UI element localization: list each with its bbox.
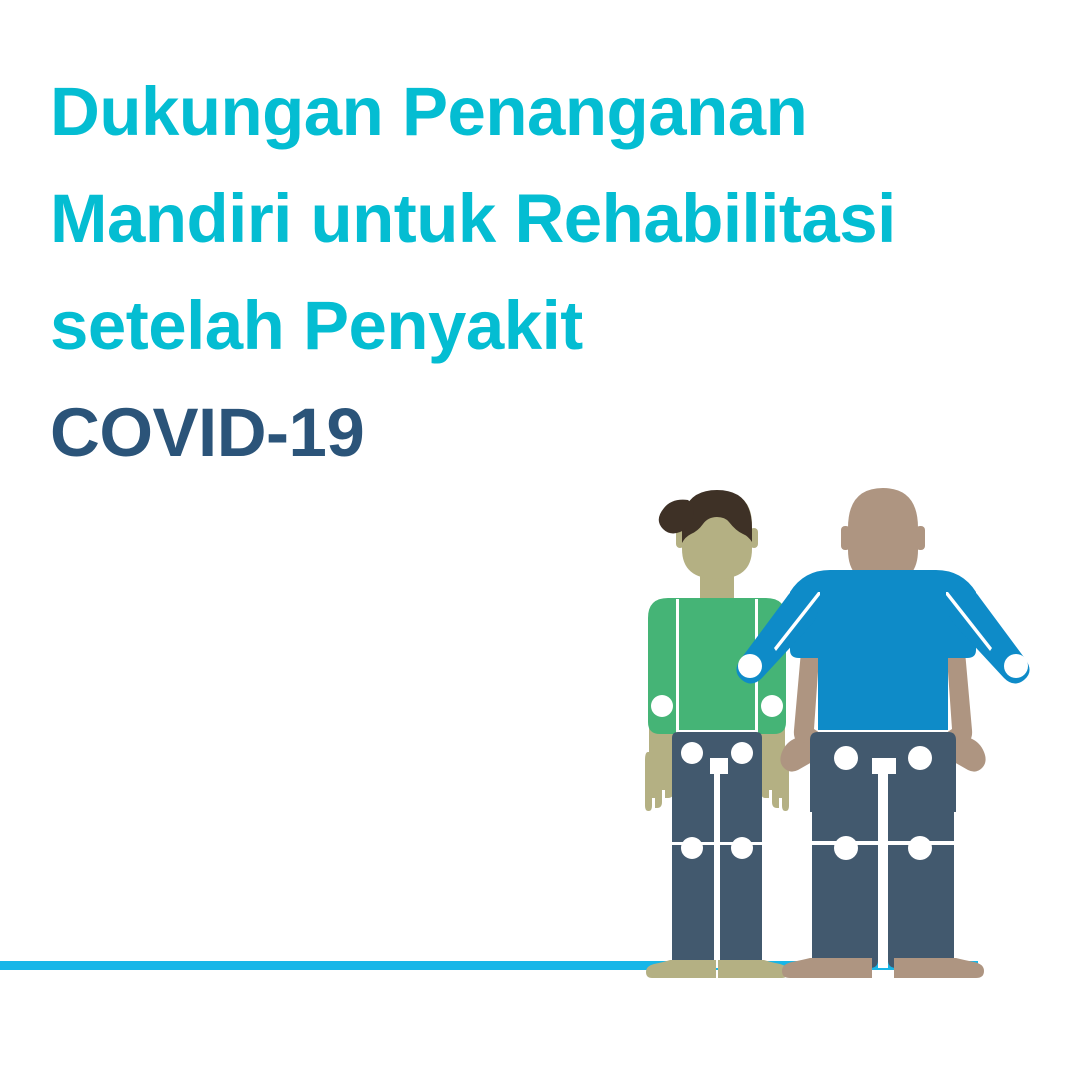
female-right-leg	[720, 770, 762, 968]
female-crotch-gap	[714, 768, 720, 968]
male-head	[848, 488, 918, 584]
female-left-elbow-joint	[651, 695, 673, 717]
female-left-hip-joint	[681, 742, 703, 764]
male-left-leg	[812, 770, 878, 968]
female-figure	[645, 490, 789, 978]
female-inner-gap	[710, 758, 728, 774]
female-left-foot	[646, 960, 716, 978]
male-left-hip-joint	[834, 746, 858, 770]
female-right-hip-joint	[731, 742, 753, 764]
male-left-ear	[841, 526, 850, 550]
male-left-knee-joint	[834, 836, 858, 860]
male-right-ear	[916, 526, 925, 550]
male-left-foot	[782, 958, 872, 978]
female-right-knee-joint	[731, 837, 753, 859]
female-left-knee-seam	[672, 842, 714, 845]
male-left-elbow-joint	[738, 654, 762, 678]
title-line-2: Mandiri untuk Rehabilitasi	[50, 165, 1030, 272]
page-title: Dukungan Penanganan Mandiri untuk Rehabi…	[50, 58, 1030, 486]
male-inner-gap	[872, 758, 896, 774]
male-right-knee-seam	[888, 841, 954, 845]
two-standing-people-illustration	[600, 470, 1080, 980]
female-left-knee-joint	[681, 837, 703, 859]
female-left-leg	[672, 770, 714, 968]
male-right-hip-joint	[908, 746, 932, 770]
female-right-knee-seam	[720, 842, 762, 845]
male-crotch-gap	[878, 766, 888, 968]
poster-canvas: Dukungan Penanganan Mandiri untuk Rehabi…	[0, 0, 1080, 1080]
male-left-knee-seam	[812, 841, 878, 845]
title-line-1: Dukungan Penanganan	[50, 58, 1030, 165]
female-top-left-seam	[676, 599, 679, 733]
female-left-hand	[645, 752, 674, 811]
female-right-elbow-joint	[761, 695, 783, 717]
male-right-foot	[894, 958, 984, 978]
male-right-elbow-joint	[1004, 654, 1028, 678]
male-blue-top-body	[818, 592, 948, 734]
title-line-3: setelah Penyakit	[50, 272, 1030, 379]
female-right-foot	[718, 960, 788, 978]
male-right-knee-joint	[908, 836, 932, 860]
male-right-leg	[888, 770, 954, 968]
